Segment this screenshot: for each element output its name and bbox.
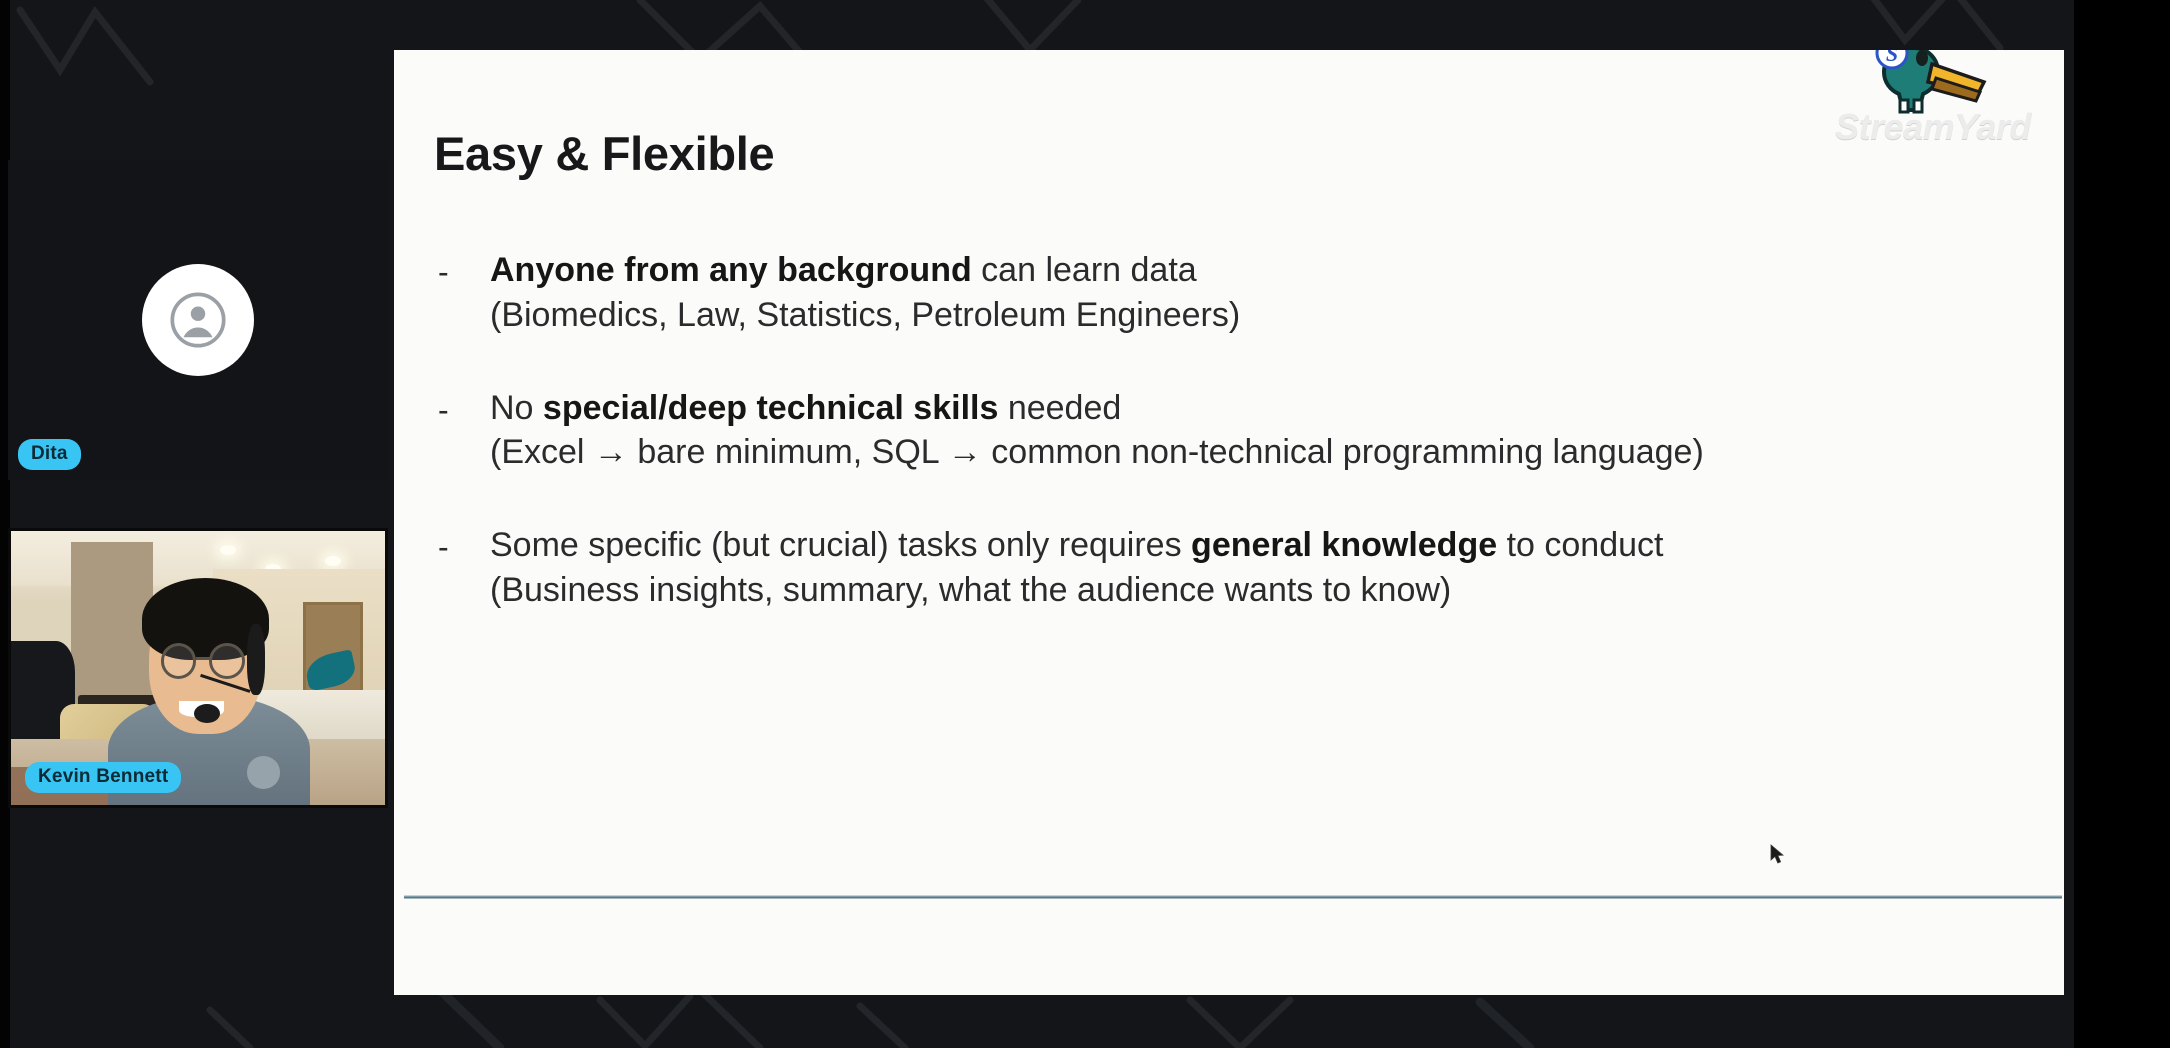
bullet-text-post: can learn data [972,251,1197,289]
bullet-main-line: Some specific (but crucial) tasks only r… [490,525,2028,566]
slide-divider [404,895,2062,899]
slide-title: Easy & Flexible [434,126,774,181]
svg-text:S: S [1886,50,1898,66]
watermark-label: StreamYard [1818,106,2048,148]
presentation-slide[interactable]: Easy & Flexible - Anyone from any backgr… [394,50,2064,995]
bullet-text-bold: special/deep technical skills [543,389,998,427]
bullet-item: - Some specific (but crucial) tasks only… [438,525,2028,611]
bullet-item: - No special/deep technical skills neede… [438,388,2028,474]
participants-rail: Dita [0,0,390,1048]
bullet-text-post: to conduct [1497,526,1663,564]
person-avatar-icon [170,292,226,348]
streamyard-watermark: S StreamYard [1818,50,2048,162]
participant-tile-dita[interactable]: Dita [8,160,388,480]
slide-bullet-list: - Anyone from any background can learn d… [438,250,2028,663]
bullet-sub-line: (Business insights, summary, what the au… [490,570,2028,611]
bullet-marker: - [438,388,490,474]
right-black-bar [2074,0,2170,1048]
participant-name-badge: Kevin Bennett [25,762,181,793]
stream-stage: Dita [0,0,2170,1048]
bullet-text-pre: Some specific (but crucial) tasks only r… [490,526,1191,564]
bullet-text-bold: general knowledge [1191,526,1497,564]
bullet-text-bold: Anyone from any background [490,251,972,289]
bullet-text-post: needed [998,389,1121,427]
participant-name-badge: Dita [18,439,81,470]
avatar [142,264,254,376]
bullet-marker: - [438,525,490,611]
bullet-sub-line: (Excel → bare minimum, SQL → common non-… [490,432,2028,473]
bullet-main-line: Anyone from any background can learn dat… [490,250,2028,291]
bullet-sub-line: (Biomedics, Law, Statistics, Petroleum E… [490,295,2028,336]
bullet-marker: - [438,250,490,336]
mouse-cursor-icon [1770,844,1786,866]
participant-tile-kevin[interactable]: Kevin Bennett [8,528,388,808]
bullet-main-line: No special/deep technical skills needed [490,388,2028,429]
duck-logo-icon: S [1870,50,2006,122]
bullet-text-pre: No [490,389,543,427]
bullet-item: - Anyone from any background can learn d… [438,250,2028,336]
